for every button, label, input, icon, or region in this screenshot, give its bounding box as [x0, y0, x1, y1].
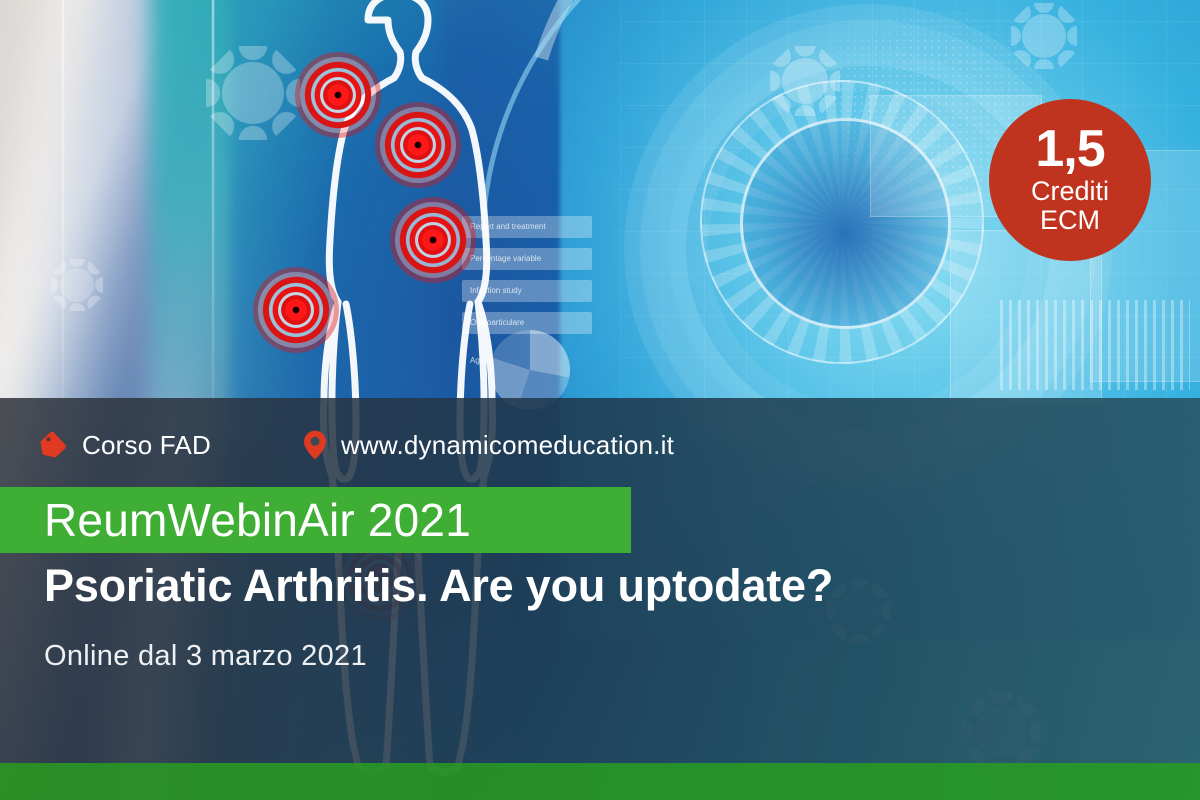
virus-icon [1022, 14, 1066, 58]
website-url-label: www.dynamicomeducation.it [341, 430, 674, 461]
availability-date: Online dal 3 marzo 2021 [44, 640, 367, 673]
bottom-green-strip [0, 763, 1200, 800]
title-highlight-bar: ReumWebinAir 2021 [0, 487, 631, 553]
hud-bar-graph [1000, 300, 1190, 390]
ecm-credits-value: 1,5 [1035, 125, 1104, 174]
ecm-acronym-label: ECM [1040, 206, 1100, 235]
tag-icon [40, 431, 68, 459]
pain-marker [390, 197, 476, 283]
virus-icon [782, 58, 828, 104]
pain-marker [295, 52, 381, 138]
headline: Psoriatic Arthritis. Are you uptodate? [44, 560, 833, 612]
tag-icon-svg [40, 431, 68, 459]
glass-line [62, 0, 64, 430]
pain-marker [253, 267, 339, 353]
website-item[interactable]: www.dynamicomeducation.it [303, 430, 674, 461]
promo-banner: Report and treatment Percentage variable… [0, 0, 1200, 800]
ecm-credits-badge: 1,5 Crediti ECM [989, 99, 1151, 261]
location-pin-icon [303, 430, 327, 460]
page-title: ReumWebinAir 2021 [0, 493, 471, 547]
ecm-credits-label: Crediti [1031, 177, 1109, 206]
course-type-item: Corso FAD [40, 430, 211, 461]
course-type-label: Corso FAD [82, 430, 211, 461]
pain-marker [375, 102, 461, 188]
location-pin-icon-svg [303, 430, 327, 460]
meta-row: Corso FAD www.dynamicomeducation.it [40, 424, 674, 466]
person-icon [60, 268, 94, 302]
